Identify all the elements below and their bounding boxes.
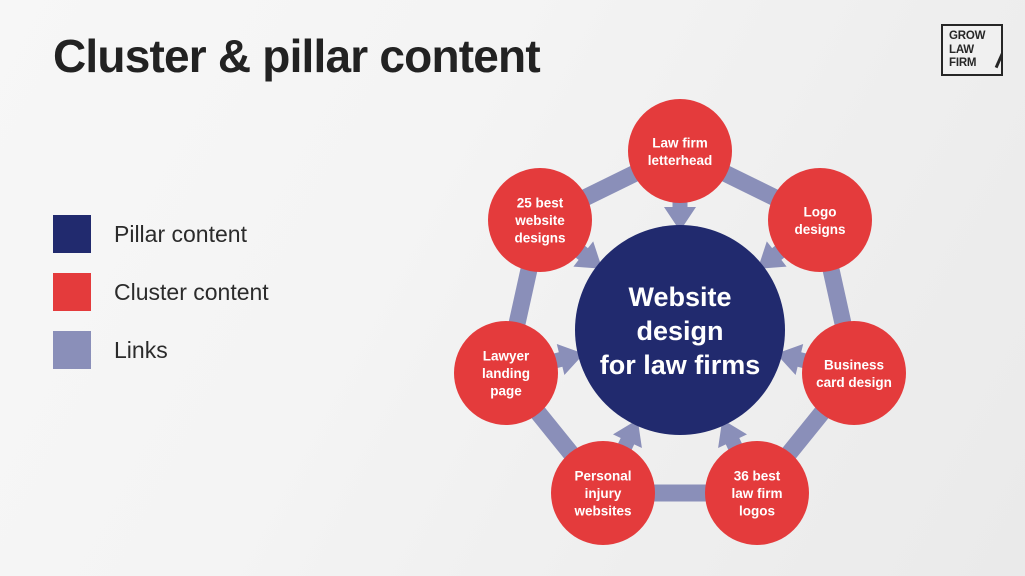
cluster-label: 25 bestwebsitedesigns [514, 196, 565, 246]
cluster-circle[interactable] [802, 321, 906, 425]
pillar-node[interactable]: Websitedesignfor law firms [575, 225, 785, 435]
cluster-node[interactable]: Personalinjurywebsites [551, 441, 655, 545]
cluster-node[interactable]: Logodesigns [768, 168, 872, 272]
cluster-pillar-diagram: Websitedesignfor law firms Law firmlette… [420, 70, 950, 576]
legend-swatch-links [53, 331, 91, 369]
logo-line-2: LAW [949, 44, 985, 58]
legend-label-links: Links [114, 337, 168, 364]
cluster-label: 36 bestlaw firmlogos [731, 469, 782, 519]
legend-swatch-pillar [53, 215, 91, 253]
legend-label-cluster: Cluster content [114, 279, 269, 306]
logo-line-3: FIRM [949, 57, 985, 71]
link-band [822, 263, 853, 330]
legend-item-pillar: Pillar content [53, 205, 269, 263]
slide-canvas: Cluster & pillar content GROW LAW FIRM P… [0, 0, 1025, 576]
cluster-node[interactable]: 36 bestlaw firmlogos [705, 441, 809, 545]
grow-law-firm-logo: GROW LAW FIRM [941, 24, 1003, 76]
cluster-circle[interactable] [628, 99, 732, 203]
legend-label-pillar: Pillar content [114, 221, 247, 248]
legend-swatch-cluster [53, 273, 91, 311]
cluster-node[interactable]: Law firmletterhead [628, 99, 732, 203]
link-band [508, 263, 539, 330]
legend-item-cluster: Cluster content [53, 263, 269, 321]
logo-slash-icon [995, 24, 1003, 68]
cluster-node[interactable]: Businesscard design [802, 321, 906, 425]
link-band [649, 485, 711, 502]
cluster-node[interactable]: Lawyerlandingpage [454, 321, 558, 425]
cluster-circle[interactable] [768, 168, 872, 272]
diagram-svg: Websitedesignfor law firms Law firmlette… [420, 70, 950, 576]
legend-item-links: Links [53, 321, 269, 379]
legend: Pillar content Cluster content Links [53, 205, 269, 379]
logo-text: GROW LAW FIRM [949, 30, 985, 71]
cluster-node[interactable]: 25 bestwebsitedesigns [488, 168, 592, 272]
logo-line-1: GROW [949, 30, 985, 44]
